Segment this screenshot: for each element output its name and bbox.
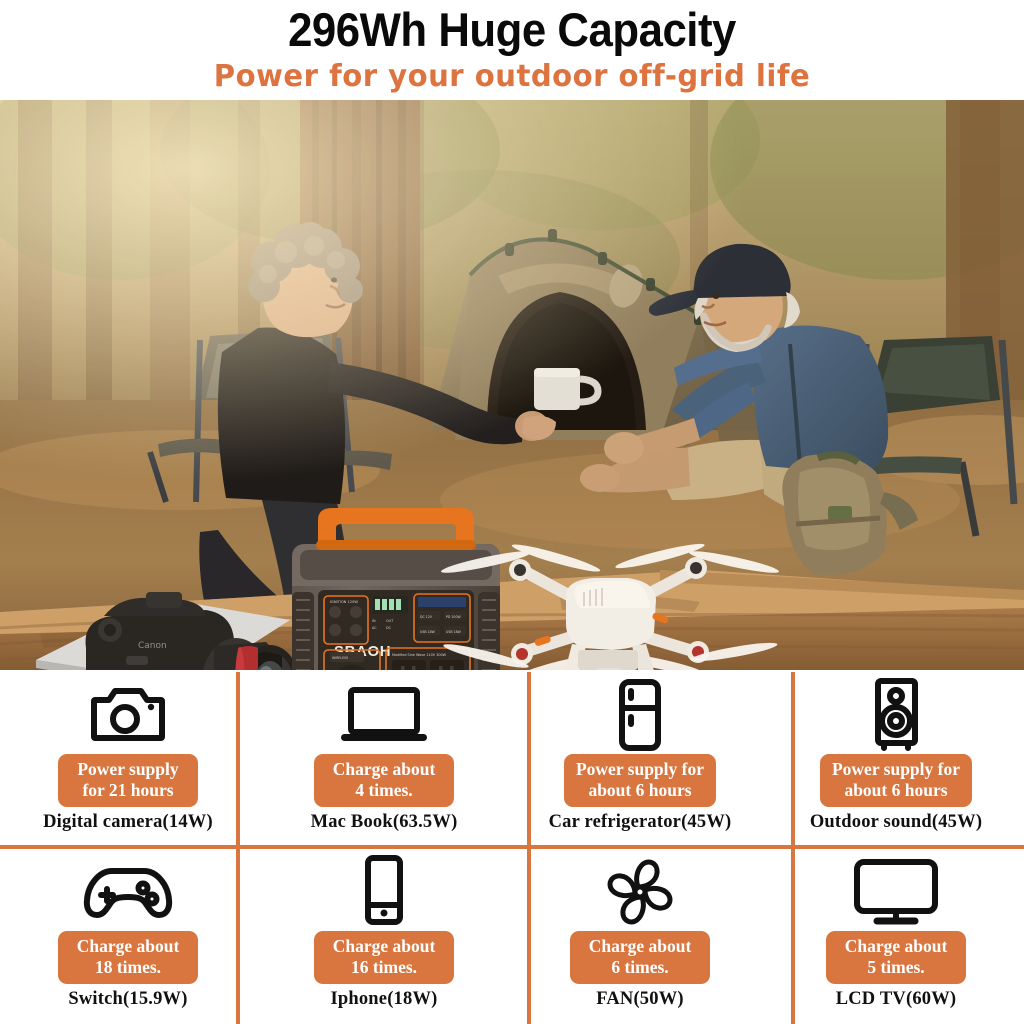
fan-icon — [600, 855, 680, 929]
grid-divider-vertical — [236, 847, 240, 1024]
device-cell-mac-book[interactable]: Charge about 4 times. Mac Book(63.5W) — [256, 670, 512, 847]
device-label: Car refrigerator(45W) — [549, 811, 732, 833]
badge-line-1: Charge about — [326, 936, 442, 957]
device-cell-car-refrigerator[interactable]: Power supply for about 6 hours Car refri… — [512, 670, 768, 847]
device-badge: Charge about 4 times. — [314, 754, 454, 807]
badge-line-1: Charge about — [838, 936, 954, 957]
device-label: Iphone(18W) — [330, 988, 437, 1010]
grid-divider-vertical — [527, 847, 531, 1024]
badge-line-1: Charge about — [326, 759, 442, 780]
device-badge: Charge about 18 times. — [58, 931, 198, 984]
smartphone-icon — [360, 855, 408, 929]
badge-line-2: 16 times. — [326, 957, 442, 978]
device-cell-switch[interactable]: Charge about 18 times. Switch(15.9W) — [0, 847, 256, 1024]
badge-line-1: Charge about — [70, 936, 186, 957]
device-cell-outdoor-sound[interactable]: Power supply for about 6 hours Outdoor s… — [768, 670, 1024, 847]
badge-line-2: 18 times. — [70, 957, 186, 978]
header-banner: 296Wh Huge Capacity Power for your outdo… — [0, 0, 1024, 100]
device-label: Mac Book(63.5W) — [311, 811, 458, 833]
device-label: Outdoor sound(45W) — [810, 811, 982, 833]
laptop-icon — [338, 678, 430, 752]
device-cell-fan[interactable]: Charge about 6 times. FAN(50W) — [512, 847, 768, 1024]
grid-divider-vertical — [791, 672, 795, 849]
speaker-icon — [869, 678, 923, 752]
badge-line-1: Power supply — [70, 759, 186, 780]
badge-line-1: Charge about — [582, 936, 698, 957]
badge-line-2: about 6 hours — [832, 780, 960, 801]
device-badge: Power supply for 21 hours — [58, 754, 198, 807]
device-cell-digital-camera[interactable]: Power supply for 21 hours Digital camera… — [0, 670, 256, 847]
badge-line-1: Power supply for — [832, 759, 960, 780]
device-label: FAN(50W) — [596, 988, 684, 1010]
badge-line-2: 6 times. — [582, 957, 698, 978]
device-badge: Power supply for about 6 hours — [820, 754, 972, 807]
device-cell-iphone[interactable]: Charge about 16 times. Iphone(18W) — [256, 847, 512, 1024]
device-label: LCD TV(60W) — [836, 988, 957, 1010]
device-label: Switch(15.9W) — [68, 988, 187, 1010]
device-cell-lcd-tv[interactable]: Charge about 5 times. LCD TV(60W) — [768, 847, 1024, 1024]
page-title: 296Wh Huge Capacity — [36, 0, 988, 58]
device-label: Digital camera(14W) — [43, 811, 213, 833]
grid-divider-vertical — [791, 847, 795, 1024]
camera-icon — [90, 678, 166, 752]
device-badge: Power supply for about 6 hours — [564, 754, 716, 807]
grid-divider-vertical — [527, 672, 531, 849]
grid-divider-vertical — [236, 672, 240, 849]
tv-icon — [852, 855, 940, 929]
device-row-1: Power supply for 21 hours Digital camera… — [0, 670, 1024, 847]
badge-line-2: about 6 hours — [576, 780, 704, 801]
page-subtitle: Power for your outdoor off-grid life — [15, 58, 1008, 96]
gamepad-icon — [82, 855, 174, 929]
badge-line-2: 4 times. — [326, 780, 442, 801]
badge-line-1: Power supply for — [576, 759, 704, 780]
campsite-scene-illustration: Canon — [0, 100, 1024, 670]
compatible-devices-grid: Power supply for 21 hours Digital camera… — [0, 670, 1024, 1024]
device-badge: Charge about 6 times. — [570, 931, 710, 984]
refrigerator-icon — [613, 678, 667, 752]
badge-line-2: 5 times. — [838, 957, 954, 978]
hero-photo: Canon — [0, 100, 1024, 670]
device-row-2: Charge about 18 times. Switch(15.9W) Cha… — [0, 847, 1024, 1024]
device-badge: Charge about 5 times. — [826, 931, 966, 984]
badge-line-2: for 21 hours — [70, 780, 186, 801]
device-badge: Charge about 16 times. — [314, 931, 454, 984]
